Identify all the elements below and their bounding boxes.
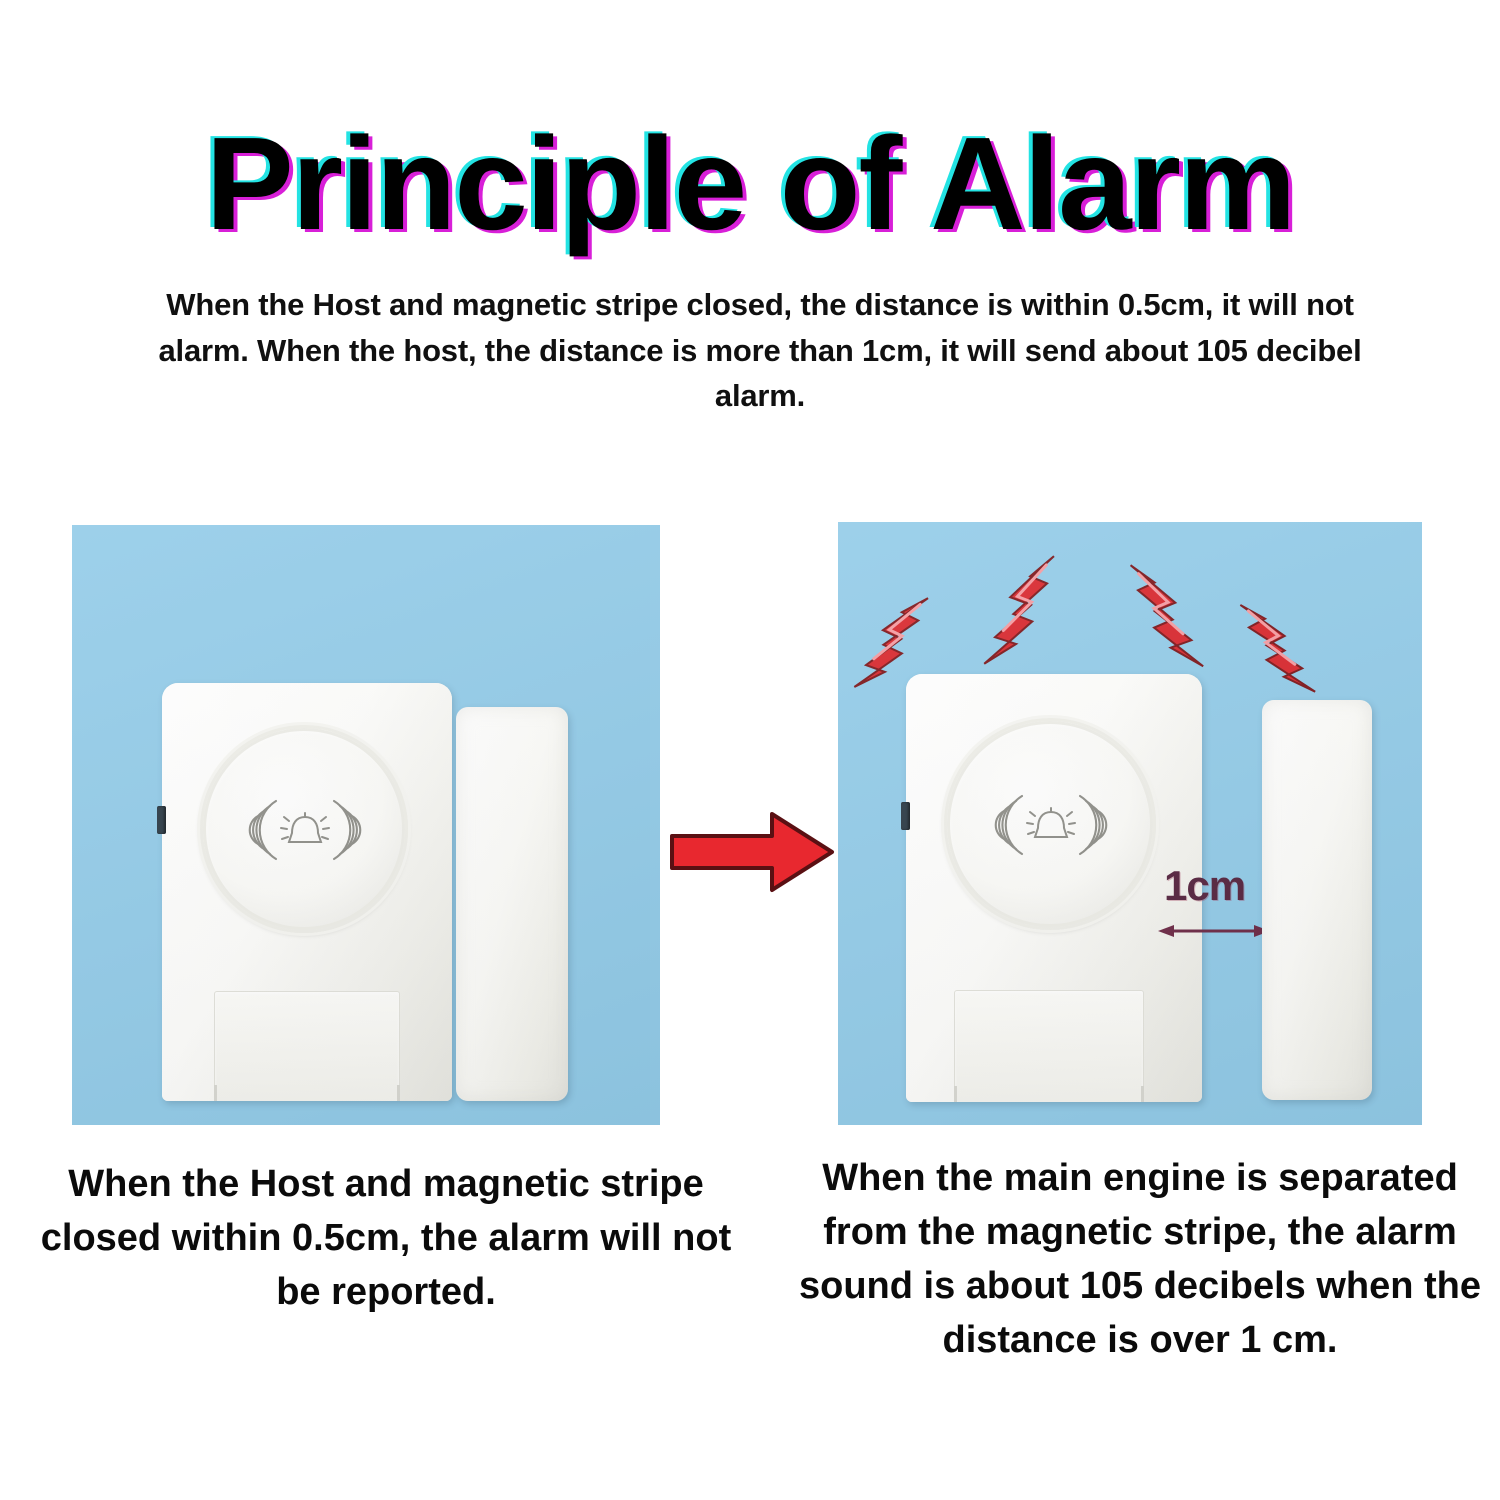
distance-label: 1cm	[1164, 862, 1245, 910]
caption-closed-state: When the Host and magnetic stripe closed…	[36, 1158, 736, 1320]
lightning-bolt-icon-2	[978, 545, 1072, 678]
lightning-bolt-icon-3	[1114, 552, 1207, 682]
page-title-container: Principle of Alarm	[0, 118, 1500, 250]
magnetic-stripe-right	[1262, 700, 1372, 1100]
intro-paragraph: When the Host and magnetic stripe closed…	[140, 282, 1380, 419]
transition-arrow-icon	[668, 806, 836, 898]
compartment-notch-right	[1141, 1086, 1144, 1102]
compartment-notch-left	[954, 1086, 957, 1102]
magnetic-stripe-left	[456, 707, 568, 1101]
caption-separated-state: When the main engine is separated from t…	[790, 1152, 1490, 1368]
alarm-bell-icon	[246, 793, 364, 867]
alarm-host-left	[162, 683, 452, 1101]
distance-arrow-icon	[1156, 920, 1272, 942]
compartment-notch-left	[214, 1085, 217, 1101]
battery-compartment	[954, 990, 1144, 1102]
battery-compartment	[214, 991, 400, 1101]
panel-closed-state	[72, 525, 660, 1125]
power-switch-icon	[157, 806, 166, 834]
alarm-bell-icon	[992, 788, 1110, 862]
compartment-notch-right	[397, 1085, 400, 1101]
lightning-bolt-icon-4	[1224, 589, 1319, 712]
page-title: Principle of Alarm	[206, 118, 1295, 250]
power-switch-icon	[901, 802, 910, 830]
panel-separated-state: 1cm	[838, 522, 1422, 1125]
alarm-host-right	[906, 674, 1202, 1102]
